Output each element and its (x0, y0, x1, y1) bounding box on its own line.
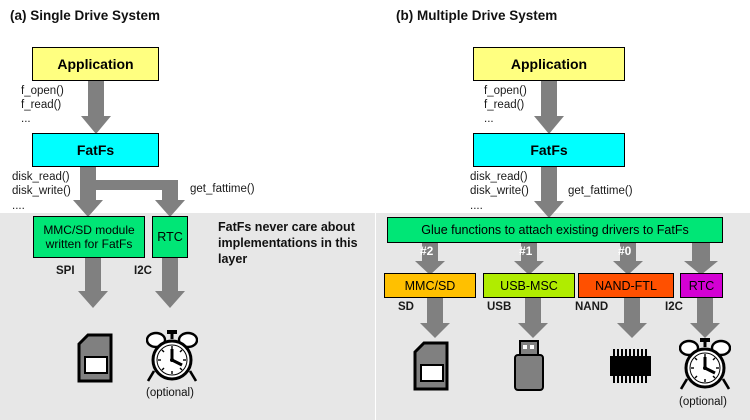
optional-caption-a: (optional) (146, 387, 194, 399)
api-disk-ellipsis-a: .... (12, 200, 25, 212)
usb-flash-drive-icon (512, 340, 546, 397)
box-fatfs-b[interactable]: FatFs (473, 133, 625, 167)
box-glue-functions-b-label: Glue functions to attach existing driver… (421, 223, 688, 237)
arrow-i2c-a (155, 257, 185, 309)
box-application-a-label: Application (57, 56, 133, 72)
panel-a-title: (a) Single Drive System (10, 8, 160, 23)
api-disk-read-b: disk_read() (470, 171, 528, 183)
drive-number-0: #0 (618, 244, 631, 258)
bus-label-nand-b: NAND (575, 301, 608, 313)
arrow-app-to-fatfs-b (534, 80, 564, 134)
box-glue-functions-b[interactable]: Glue functions to attach existing driver… (387, 217, 723, 243)
bus-label-sd-b: SD (398, 301, 414, 313)
box-mmcsd-module-a-label: MMC/SD module written for FatFs (38, 223, 140, 251)
alarm-clock-icon-a (146, 327, 198, 385)
box-application-a[interactable]: Application (32, 47, 159, 81)
bus-label-i2c-a: I2C (134, 265, 152, 277)
box-mmcsd-module-a[interactable]: MMC/SD module written for FatFs (33, 216, 145, 258)
api-disk-write-a: disk_write() (12, 185, 71, 197)
box-application-b[interactable]: Application (473, 47, 625, 81)
api-get-fattime-b: get_fattime() (568, 185, 633, 197)
arrow-fatfs-to-rtc-a (155, 180, 185, 218)
arrow-sd-bus-b (420, 297, 450, 339)
arrow-i2c-bus-b (690, 297, 720, 339)
bus-label-spi-a: SPI (56, 265, 75, 277)
arrow-nand-bus-b (617, 297, 647, 339)
alarm-clock-icon-b (679, 335, 731, 393)
box-rtc-b-label: RTC (689, 279, 714, 293)
panel-b-title: (b) Multiple Drive System (396, 8, 557, 23)
box-rtc-b[interactable]: RTC (680, 273, 723, 298)
box-rtc-a[interactable]: RTC (152, 216, 188, 258)
sd-card-icon (76, 333, 114, 383)
api-f-open-a: f_open() (21, 85, 64, 97)
optional-caption-b: (optional) (679, 396, 727, 408)
drive-number-2: #2 (420, 244, 433, 258)
api-disk-read-a: disk_read() (12, 171, 70, 183)
figure-canvas: (a) Single Drive System Application f_op… (0, 0, 750, 420)
api-f-open-b: f_open() (484, 85, 527, 97)
box-usb-msc-b-label: USB-MSC (500, 279, 558, 293)
box-rtc-a-label: RTC (157, 230, 182, 244)
api-disk-write-b: disk_write() (470, 185, 529, 197)
box-nand-ftl-b[interactable]: NAND-FTL (578, 273, 674, 298)
box-usb-msc-b[interactable]: USB-MSC (483, 273, 575, 298)
box-mmcsd-b[interactable]: MMC/SD (384, 273, 476, 298)
api-disk-ellipsis-b: .... (470, 200, 483, 212)
arrow-glue-to-rtc-b (684, 242, 718, 276)
api-get-fattime-a: get_fattime() (190, 183, 255, 195)
arrow-usb-bus-b (518, 297, 548, 339)
arrow-app-to-fatfs-a (81, 80, 111, 134)
box-application-b-label: Application (511, 56, 587, 72)
arrow-fatfs-to-glue-b (534, 166, 564, 219)
box-mmcsd-b-label: MMC/SD (405, 279, 456, 293)
box-fatfs-b-label: FatFs (530, 142, 567, 158)
layer-note-a: FatFs never care about implementations i… (218, 219, 368, 267)
nand-flash-chip-icon (608, 349, 654, 383)
drive-number-1: #1 (519, 244, 532, 258)
arrow-spi-a (78, 257, 108, 309)
api-f-read-a: f_read() (21, 99, 61, 111)
api-f-read-b: f_read() (484, 99, 524, 111)
box-fatfs-a-label: FatFs (77, 142, 114, 158)
bus-label-usb-b: USB (487, 301, 511, 313)
box-fatfs-a[interactable]: FatFs (32, 133, 159, 167)
arrow-fatfs-to-mmcsd-a (73, 166, 103, 218)
sd-card-icon-b (412, 341, 450, 391)
bus-label-i2c-b: I2C (665, 301, 683, 313)
api-ellipsis-b: ... (484, 113, 494, 125)
api-ellipsis-a: ... (21, 113, 31, 125)
box-nand-ftl-b-label: NAND-FTL (595, 279, 657, 293)
